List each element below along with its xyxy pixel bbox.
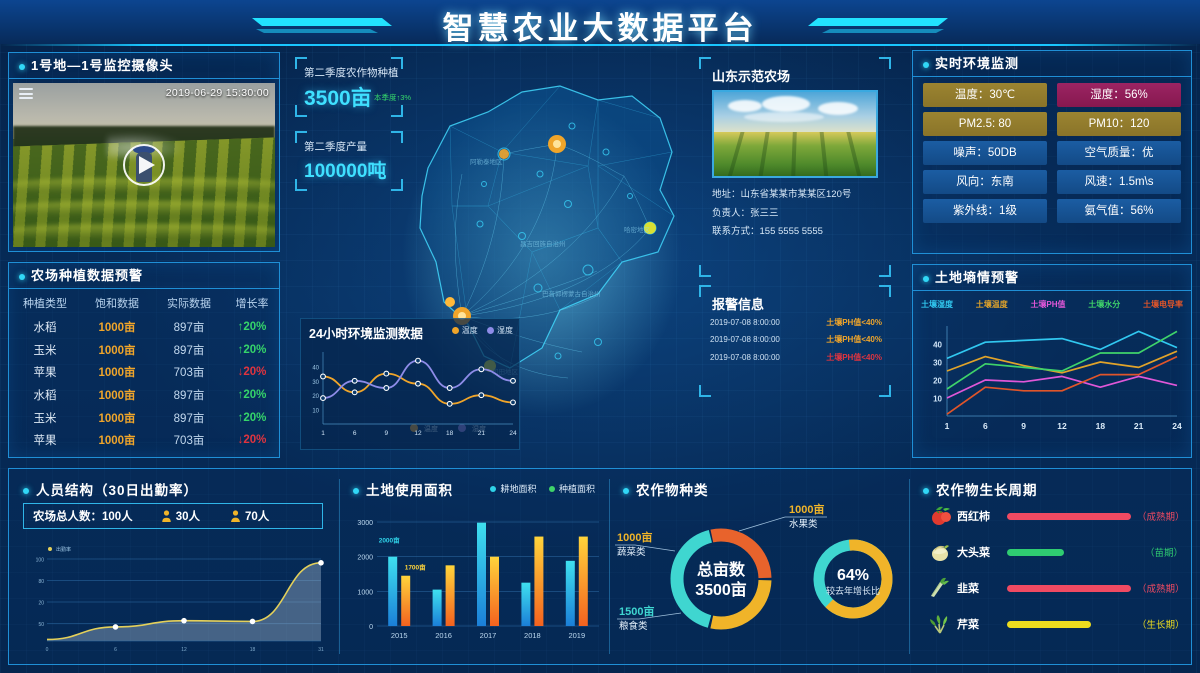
female-person-icon xyxy=(230,510,241,522)
camera-timestamp: 2019-06-29 15:30:00 xyxy=(166,87,269,99)
growth-progress-fill xyxy=(1007,549,1064,556)
env-metric: 紫外线：1级 xyxy=(923,199,1047,223)
cell-saturated: 1000亩 xyxy=(81,316,153,339)
stat-planting-label: 第二季度农作物种植 xyxy=(304,65,399,80)
bullet-icon xyxy=(923,488,929,494)
soil-legend-item[interactable]: 土壤PH值 xyxy=(1030,299,1065,310)
personnel-male: 30人 xyxy=(161,508,200,524)
cell-growth: ↓20% xyxy=(225,361,279,384)
env-metric: 噪声：50DB xyxy=(923,141,1047,165)
svg-text:64%: 64% xyxy=(837,567,869,584)
cell-type: 苹果 xyxy=(9,429,81,452)
svg-text:50: 50 xyxy=(38,622,44,628)
table-row[interactable]: 苹果1000亩703亩↓20% xyxy=(9,429,279,452)
cell-saturated: 1000亩 xyxy=(81,384,153,407)
soil-legend-item[interactable]: 土壤电导率 xyxy=(1143,299,1183,310)
svg-text:1: 1 xyxy=(321,430,325,437)
svg-text:12: 12 xyxy=(1057,421,1067,431)
personnel-total: 农场总人数：100人 xyxy=(33,508,133,524)
svg-text:0: 0 xyxy=(46,647,49,653)
farm-contact-row: 联系方式：155 5555 5555 xyxy=(712,223,851,242)
svg-text:9: 9 xyxy=(1021,421,1026,431)
col-sat: 饱和数据 xyxy=(81,291,153,316)
farm-address-row: 地址：山东省某某市某某区120号 xyxy=(712,186,851,205)
celery-icon xyxy=(927,613,953,635)
soil-legend-item[interactable]: 土壤水分 xyxy=(1088,299,1120,310)
video-crop-row xyxy=(13,201,275,217)
stat-yield-value: 100000吨 xyxy=(304,156,386,183)
cell-growth: ↓20% xyxy=(225,429,279,452)
svg-text:阿勒泰地区: 阿勒泰地区 xyxy=(470,157,503,166)
svg-text:24: 24 xyxy=(509,430,517,437)
svg-text:24: 24 xyxy=(1172,421,1182,431)
farm-photo xyxy=(712,90,878,178)
chart-24h-environment: 24小时环境监测数据 温度 湿度 1020304016912182124 xyxy=(300,318,520,450)
header: 智慧农业大数据平台 xyxy=(0,0,1200,48)
alarm-message: 土壤PH值<40% xyxy=(826,353,882,363)
svg-text:21: 21 xyxy=(1134,421,1144,431)
hamburger-menu-icon[interactable] xyxy=(19,88,33,99)
cell-actual: 897亩 xyxy=(153,406,225,429)
growth-progress-fill xyxy=(1007,621,1091,628)
table-body: 水稻1000亩897亩↑20%玉米1000亩897亩↑20%苹果1000亩703… xyxy=(9,316,279,452)
cabbage-icon xyxy=(927,541,953,563)
cell-saturated: 1000亩 xyxy=(81,361,153,384)
svg-text:较去年增长比: 较去年增长比 xyxy=(826,585,880,596)
environment-monitor-panel: 实时环境监测 温度：30℃湿度：56%PM2.5: 80PM10：120噪声：5… xyxy=(912,50,1192,254)
svg-text:12: 12 xyxy=(414,430,422,437)
crop-panel-title: 农作物种类 xyxy=(623,479,709,499)
alarm-message: 土壤PH值<40% xyxy=(826,318,882,328)
cell-saturated: 1000亩 xyxy=(81,406,153,429)
svg-text:6: 6 xyxy=(114,647,117,653)
environment-metrics-grid: 温度：30℃湿度：56%PM2.5: 80PM10：120噪声：50DB空气质量… xyxy=(923,83,1181,223)
growth-row[interactable]: 大头菜（苗期） xyxy=(927,539,1183,565)
cell-growth: ↑20% xyxy=(225,339,279,362)
camera-video[interactable]: 2019-06-29 15:30:00 xyxy=(13,83,275,247)
alarm-row: 2019-07-08 8:00:00土壤PH值<40% xyxy=(710,318,882,328)
soil-chart-legend: 土壤湿度土壤温度土壤PH值土壤水分土壤电导率 xyxy=(921,299,1183,310)
svg-text:1500亩: 1500亩 xyxy=(619,604,654,618)
svg-text:40: 40 xyxy=(933,341,942,350)
chart-24h-title: 24小时环境监测数据 xyxy=(309,323,423,342)
svg-text:30: 30 xyxy=(312,380,319,386)
personnel-summary-bar: 农场总人数：100人 30人 70人 xyxy=(23,503,323,529)
col-actual: 实际数据 xyxy=(153,291,225,316)
env-metric: 风速：1.5m\s xyxy=(1057,170,1181,194)
growth-status: （生长期） xyxy=(1137,617,1183,631)
svg-text:80: 80 xyxy=(38,579,44,585)
chart-24h-svg: 1020304016912182124 xyxy=(301,343,521,449)
svg-text:20: 20 xyxy=(312,394,319,400)
growth-crop-name: 韭菜 xyxy=(957,580,1001,596)
land-chart-legend: 耕地面积 种植面积 xyxy=(480,482,595,495)
male-person-icon xyxy=(161,510,172,522)
environment-monitor-title: 实时环境监测 xyxy=(913,51,1191,77)
alarm-info-panel: 报警信息 2019-07-08 8:00:00土壤PH值<40%2019-07-… xyxy=(700,286,890,396)
growth-panel-title: 农作物生长周期 xyxy=(923,479,1038,499)
personnel-female: 70人 xyxy=(230,508,269,524)
svg-text:1: 1 xyxy=(945,421,950,431)
svg-text:2015: 2015 xyxy=(391,631,408,640)
personnel-panel-title: 人员结构（30日出勤率） xyxy=(23,479,198,499)
svg-text:10: 10 xyxy=(312,409,319,415)
svg-text:粮食类: 粮食类 xyxy=(619,620,648,632)
svg-text:蔬菜类: 蔬菜类 xyxy=(617,546,646,558)
svg-text:昌吉回族自治州: 昌吉回族自治州 xyxy=(520,239,566,248)
cell-actual: 703亩 xyxy=(153,361,225,384)
bullet-icon xyxy=(923,62,929,68)
svg-text:6: 6 xyxy=(983,421,988,431)
alarm-row: 2019-07-08 8:00:00土壤PH值<40% xyxy=(710,353,882,363)
svg-text:3500亩: 3500亩 xyxy=(695,580,747,599)
table-row[interactable]: 玉米1000亩897亩↑20% xyxy=(9,406,279,429)
cell-growth: ↑20% xyxy=(225,316,279,339)
growth-row[interactable]: 西红柿（成熟期） xyxy=(927,503,1183,529)
growth-row[interactable]: 韭菜（成熟期） xyxy=(927,575,1183,601)
cloud-icon xyxy=(744,112,824,122)
svg-text:水果类: 水果类 xyxy=(789,518,818,530)
bullet-icon xyxy=(623,488,629,494)
cloud-icon xyxy=(728,100,762,112)
growth-crop-name: 芹菜 xyxy=(957,616,1001,632)
growth-crop-name: 大头菜 xyxy=(957,544,1001,560)
svg-text:18: 18 xyxy=(1096,421,1106,431)
land-panel-title: 土地使用面积 xyxy=(353,479,453,499)
land-usage-panel: 土地使用面积 耕地面积 种植面积 01000200030002015201620… xyxy=(339,469,609,664)
cell-actual: 897亩 xyxy=(153,384,225,407)
alarm-time: 2019-07-08 8:00:00 xyxy=(710,353,780,363)
planting-alert-panel: 农场种植数据预警 种植类型 饱和数据 实际数据 增长率 水稻1000亩897亩↑… xyxy=(8,262,280,458)
alarm-panel-title: 报警信息 xyxy=(712,294,764,313)
env-metric: PM2.5: 80 xyxy=(923,112,1047,136)
svg-text:10: 10 xyxy=(933,395,942,404)
env-metric: 风向：东南 xyxy=(923,170,1047,194)
stat-card-planting: 第二季度农作物种植 3500亩 本季度↑3% xyxy=(296,58,402,116)
cell-actual: 897亩 xyxy=(153,339,225,362)
bullet-icon xyxy=(19,274,25,280)
cell-saturated: 1000亩 xyxy=(81,429,153,452)
page-title: 智慧农业大数据平台 xyxy=(0,3,1200,48)
cell-type: 水稻 xyxy=(9,384,81,407)
svg-text:2000: 2000 xyxy=(357,555,373,562)
growth-progress-fill xyxy=(1007,513,1131,520)
svg-text:20: 20 xyxy=(38,601,44,607)
growth-progress-track xyxy=(1007,621,1131,628)
crop-types-panel: 农作物种类 总亩数3500亩1000亩水果类1000亩蔬菜类1500亩粮食类64… xyxy=(609,469,909,664)
env-metric: 氨气值：56% xyxy=(1057,199,1181,223)
bullet-icon xyxy=(923,276,929,282)
cell-saturated: 1000亩 xyxy=(81,339,153,362)
growth-crop-name: 西红柿 xyxy=(957,508,1001,524)
bullet-icon xyxy=(19,64,25,70)
svg-text:18: 18 xyxy=(446,430,454,437)
farm-manager-row: 负责人：张三三 xyxy=(712,205,851,224)
growth-row[interactable]: 芹菜（生长期） xyxy=(927,611,1183,637)
col-type: 种植类型 xyxy=(9,291,81,316)
svg-text:1700亩: 1700亩 xyxy=(405,563,426,572)
svg-text:9: 9 xyxy=(385,430,389,437)
bullet-icon xyxy=(23,488,29,494)
soil-chart-svg: 1020304016912182124 xyxy=(921,317,1185,443)
soil-legend-item[interactable]: 土壤湿度 xyxy=(921,299,953,310)
crop-donut-charts: 总亩数3500亩1000亩水果类1000亩蔬菜类1500亩粮食类64%较去年增长… xyxy=(609,501,909,661)
cell-growth: ↑20% xyxy=(225,406,279,429)
svg-text:哈密地区: 哈密地区 xyxy=(624,225,651,234)
col-growth: 增长率 xyxy=(225,291,279,316)
alarm-time: 2019-07-08 8:00:00 xyxy=(710,318,780,328)
bottom-panels: 人员结构（30日出勤率） 农场总人数：100人 30人 70人 10080205… xyxy=(8,468,1192,665)
cell-type: 水稻 xyxy=(9,316,81,339)
table-row[interactable]: 水稻1000亩897亩↑20% xyxy=(9,384,279,407)
table-row[interactable]: 苹果1000亩703亩↓20% xyxy=(9,361,279,384)
cell-type: 苹果 xyxy=(9,361,81,384)
table-row[interactable]: 水稻1000亩897亩↑20% xyxy=(9,316,279,339)
svg-text:巴音郭楞蒙古自治州: 巴音郭楞蒙古自治州 xyxy=(542,289,601,298)
cell-actual: 703亩 xyxy=(153,429,225,452)
alarm-row: 2019-07-08 8:00:00土壤PH值<40% xyxy=(710,335,882,345)
growth-status: （苗期） xyxy=(1137,545,1183,559)
farm-details: 地址：山东省某某市某某区120号 负责人：张三三 联系方式：155 5555 5… xyxy=(712,186,851,242)
soil-legend-item[interactable]: 土壤温度 xyxy=(976,299,1008,310)
svg-text:1000亩: 1000亩 xyxy=(789,502,824,516)
cell-type: 玉米 xyxy=(9,406,81,429)
svg-text:31: 31 xyxy=(318,647,324,653)
svg-text:2000亩: 2000亩 xyxy=(379,536,400,545)
svg-text:21: 21 xyxy=(478,430,486,437)
svg-text:2016: 2016 xyxy=(435,631,452,640)
svg-text:3000: 3000 xyxy=(357,520,373,527)
growth-cycle-panel: 农作物生长周期 西红柿（成熟期）大头菜（苗期）韭菜（成熟期）芹菜（生长期） xyxy=(909,469,1193,664)
stat-card-yield: 第二季度产量 100000吨 xyxy=(296,132,402,190)
svg-text:100: 100 xyxy=(36,558,45,564)
stat-planting-value: 3500亩 xyxy=(304,82,372,112)
growth-progress-track xyxy=(1007,549,1131,556)
cell-growth: ↑20% xyxy=(225,384,279,407)
env-metric: 湿度：56% xyxy=(1057,83,1181,107)
video-crop-row xyxy=(13,224,275,240)
growth-status: （成熟期） xyxy=(1137,581,1183,595)
svg-text:6: 6 xyxy=(353,430,357,437)
svg-text:20: 20 xyxy=(933,377,942,386)
growth-progress-fill xyxy=(1007,585,1131,592)
svg-text:1000: 1000 xyxy=(357,589,373,596)
farm-info-panel: 山东示范农场 地址：山东省某某市某某区120号 负责人：张三三 联系方式：155… xyxy=(700,58,890,276)
env-metric: 空气质量：优 xyxy=(1057,141,1181,165)
svg-text:12: 12 xyxy=(181,647,187,653)
farm-name: 山东示范农场 xyxy=(712,66,790,85)
env-metric: PM10：120 xyxy=(1057,112,1181,136)
table-row[interactable]: 玉米1000亩897亩↑20% xyxy=(9,339,279,362)
svg-text:30: 30 xyxy=(933,359,942,368)
growth-status: （成熟期） xyxy=(1137,509,1183,523)
planting-alert-title: 农场种植数据预警 xyxy=(9,263,279,289)
svg-text:18: 18 xyxy=(250,647,256,653)
svg-text:总亩数: 总亩数 xyxy=(697,560,746,579)
alarm-time: 2019-07-08 8:00:00 xyxy=(710,335,780,345)
table-header-row: 种植类型 饱和数据 实际数据 增长率 xyxy=(9,291,279,316)
stat-yield-label: 第二季度产量 xyxy=(304,139,367,154)
soil-alert-title: 土地墒情预警 xyxy=(913,265,1191,291)
svg-text:0: 0 xyxy=(369,624,373,631)
chart-24h-legend: 温度 湿度 xyxy=(445,325,513,336)
cell-actual: 897亩 xyxy=(153,316,225,339)
alarm-list: 2019-07-08 8:00:00土壤PH值<40%2019-07-08 8:… xyxy=(710,318,882,370)
play-icon[interactable] xyxy=(123,144,165,186)
tomato-icon xyxy=(927,505,953,527)
cell-type: 玉米 xyxy=(9,339,81,362)
cloud-icon xyxy=(818,102,858,115)
land-usage-chart: 0100020003000201520162017201820192000亩17… xyxy=(347,505,605,661)
personnel-structure-panel: 人员结构（30日出勤率） 农场总人数：100人 30人 70人 10080205… xyxy=(9,469,339,664)
camera-panel-title: 1号地—1号监控摄像头 xyxy=(9,53,279,79)
bullet-icon xyxy=(353,488,359,494)
farm-photo-field xyxy=(714,132,876,177)
env-metric: 温度：30℃ xyxy=(923,83,1047,107)
svg-text:出勤率: 出勤率 xyxy=(56,546,71,553)
growth-progress-track xyxy=(1007,585,1131,592)
growth-progress-track xyxy=(1007,513,1131,520)
svg-text:2018: 2018 xyxy=(524,631,541,640)
soil-alert-panel: 土地墒情预警 土壤湿度土壤温度土壤PH值土壤水分土壤电导率 1020304016… xyxy=(912,264,1192,458)
alarm-message: 土壤PH值<40% xyxy=(826,335,882,345)
cloud-icon xyxy=(762,96,810,112)
leek-icon xyxy=(927,577,953,599)
svg-text:2019: 2019 xyxy=(568,631,585,640)
svg-text:1000亩: 1000亩 xyxy=(617,530,652,544)
svg-text:2017: 2017 xyxy=(480,631,497,640)
svg-text:40: 40 xyxy=(312,365,319,371)
camera-panel: 1号地—1号监控摄像头 2019-06-29 15:30:00 xyxy=(8,52,280,252)
personnel-attendance-chart: 100802050出勤率06121831 xyxy=(23,537,329,659)
planting-alert-table: 种植类型 饱和数据 实际数据 增长率 水稻1000亩897亩↑20%玉米1000… xyxy=(9,291,279,452)
